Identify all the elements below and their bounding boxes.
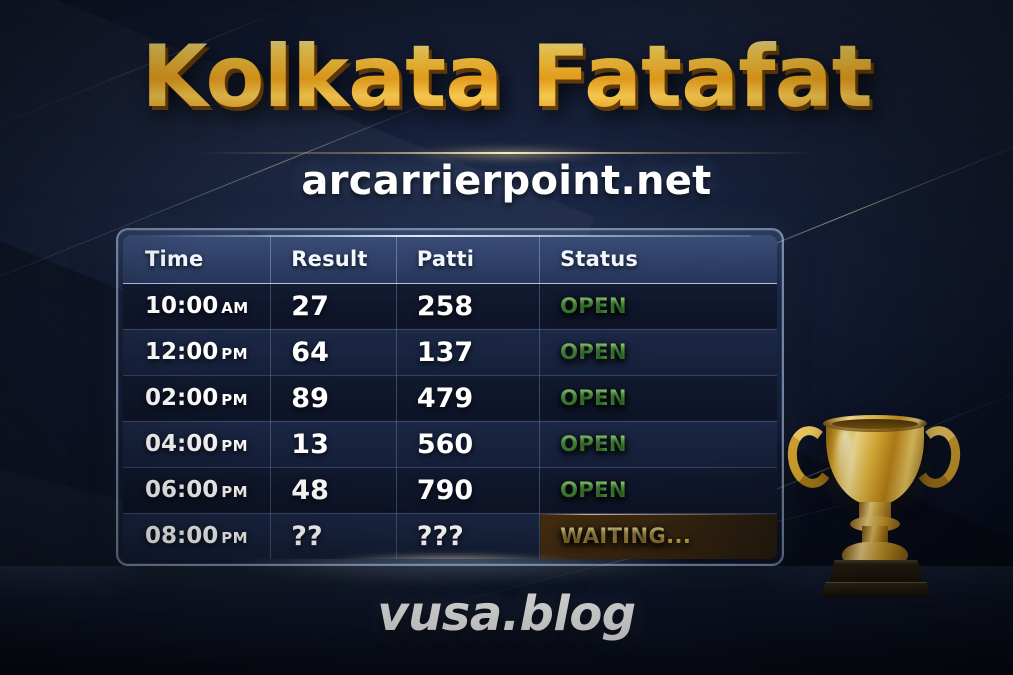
cell-result: 48: [271, 467, 397, 513]
column-header-patti[interactable]: Patti: [396, 235, 539, 283]
table-row: 04:00PM 13 560 OPEN: [123, 421, 777, 467]
table-header-row: Time Result Patti Status: [123, 235, 777, 283]
column-header-time[interactable]: Time: [123, 235, 271, 283]
title-text: Kolkata Fatafat: [141, 34, 871, 120]
time-value: 02:00: [145, 385, 218, 411]
status-badge: OPEN: [560, 432, 627, 456]
table-row: 06:00PM 48 790 OPEN: [123, 467, 777, 513]
time-value: 06:00: [145, 477, 218, 503]
status-badge: OPEN: [560, 294, 627, 318]
cell-result: 89: [271, 375, 397, 421]
cell-result: 13: [271, 421, 397, 467]
poster-canvas: Kolkata Fatafat arcarrierpoint.net Time …: [0, 0, 1013, 675]
cell-patti: 790: [396, 467, 539, 513]
column-header-status[interactable]: Status: [540, 235, 777, 283]
page-title: Kolkata Fatafat: [0, 34, 1013, 120]
site-subtitle: arcarrierpoint.net: [0, 158, 1013, 204]
column-header-result[interactable]: Result: [271, 235, 397, 283]
cell-status: OPEN: [540, 329, 777, 375]
trophy-icon: [780, 406, 970, 586]
time-meridiem: PM: [221, 437, 248, 455]
status-badge: OPEN: [560, 340, 627, 364]
cell-status: OPEN: [540, 283, 777, 329]
cell-result: 64: [271, 329, 397, 375]
cell-time: 06:00PM: [123, 467, 271, 513]
cell-patti: 137: [396, 329, 539, 375]
cell-result: 27: [271, 283, 397, 329]
time-meridiem: PM: [221, 529, 248, 547]
title-underline: [197, 152, 817, 154]
time-value: 08:00: [145, 523, 218, 549]
cell-patti: 258: [396, 283, 539, 329]
cell-time: 12:00PM: [123, 329, 271, 375]
results-table: Time Result Patti Status 10:00AM 27 258 …: [123, 235, 777, 559]
cell-patti: 560: [396, 421, 539, 467]
table-row: 10:00AM 27 258 OPEN: [123, 283, 777, 329]
cell-patti: 479: [396, 375, 539, 421]
time-value: 12:00: [145, 339, 218, 365]
status-badge: WAITING...: [560, 524, 691, 548]
results-table-body: 10:00AM 27 258 OPEN 12:00PM 64 137 OPEN …: [123, 283, 777, 559]
time-meridiem: PM: [221, 483, 248, 501]
time-meridiem: PM: [221, 345, 248, 363]
status-badge: OPEN: [560, 478, 627, 502]
status-badge: OPEN: [560, 386, 627, 410]
time-value: 04:00: [145, 431, 218, 457]
cell-time: 02:00PM: [123, 375, 271, 421]
footer-brand: vusa.blog: [0, 586, 1013, 642]
panel-top-glow: [149, 235, 751, 237]
cell-time: 08:00PM: [123, 513, 271, 559]
cell-status: OPEN: [540, 375, 777, 421]
time-meridiem: AM: [221, 299, 248, 317]
cell-status: OPEN: [540, 421, 777, 467]
cell-time: 10:00AM: [123, 283, 271, 329]
table-row: 02:00PM 89 479 OPEN: [123, 375, 777, 421]
results-panel: Time Result Patti Status 10:00AM 27 258 …: [116, 228, 784, 566]
cell-time: 04:00PM: [123, 421, 271, 467]
panel-bottom-glow: [267, 549, 633, 559]
time-value: 10:00: [145, 293, 218, 319]
table-row: 12:00PM 64 137 OPEN: [123, 329, 777, 375]
time-meridiem: PM: [221, 391, 248, 409]
cell-status: OPEN: [540, 467, 777, 513]
